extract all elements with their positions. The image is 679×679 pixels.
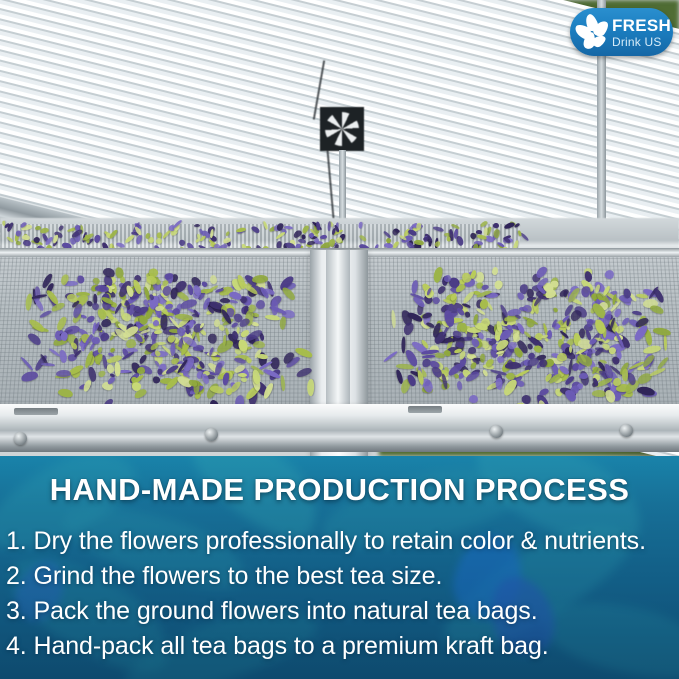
flower-petal — [604, 269, 616, 280]
flower-heap-right — [372, 262, 672, 402]
flower-petal — [281, 375, 286, 391]
flower-petal — [479, 353, 484, 362]
flower-heap-back — [0, 222, 520, 248]
frame-slot — [408, 406, 442, 413]
list-item: 3. Pack the ground flowers into natural … — [6, 594, 679, 629]
flower-petal — [569, 346, 572, 353]
flower-petal — [422, 354, 435, 357]
flower-petal — [320, 234, 327, 239]
flower-petal — [27, 317, 45, 334]
flower-petal — [476, 230, 482, 234]
frame-bolt — [205, 428, 218, 441]
flower-petal — [52, 234, 59, 244]
flower-petal — [358, 221, 364, 229]
flower-petal — [469, 394, 479, 403]
flower-petal — [26, 331, 43, 347]
flower-petal — [106, 375, 116, 385]
flower-petal — [57, 388, 73, 399]
flower-petal — [392, 310, 397, 328]
flower-petal — [94, 284, 108, 293]
flower-petal — [222, 335, 225, 346]
flower-petal — [185, 326, 189, 335]
flower-petal — [236, 227, 246, 233]
flower-heap-left — [10, 262, 310, 402]
flower-petal — [506, 373, 515, 380]
flower-petal — [59, 349, 68, 363]
flower-petal — [456, 380, 463, 389]
flower-petal — [6, 236, 15, 244]
flower-petal — [194, 224, 200, 227]
flower-petal — [307, 379, 315, 396]
flower-petal — [461, 290, 475, 304]
flower-petal — [154, 330, 162, 334]
flower-petal — [538, 387, 550, 397]
flower-petal — [15, 229, 22, 236]
flower-petal — [110, 347, 117, 353]
flower-petal — [526, 318, 535, 328]
flower-petal — [92, 336, 100, 343]
flower-petal — [649, 304, 665, 316]
flower-petal — [493, 223, 499, 228]
flower-petal — [416, 222, 422, 230]
frame-bolt — [490, 425, 503, 438]
flower-petal — [631, 310, 642, 316]
logo-text-block: FRESH Drink US — [612, 17, 671, 48]
frame-bolt — [620, 424, 633, 437]
flower-petal — [109, 229, 120, 240]
flower-petal — [177, 239, 185, 247]
flower-petal — [99, 331, 111, 342]
exhaust-fan-icon — [320, 107, 364, 151]
flower-petal — [271, 299, 278, 315]
flower-petal — [446, 236, 450, 241]
list-item: 1. Dry the flowers professionally to ret… — [6, 524, 679, 559]
flower-petal — [465, 311, 471, 317]
list-item: 4. Hand-pack all tea bags to a premium k… — [6, 629, 679, 664]
flower-petal — [77, 276, 84, 284]
logo-subtitle: Drink US — [612, 36, 671, 48]
flower-petal — [495, 377, 502, 389]
flower-petal — [295, 366, 312, 378]
flower-petal — [553, 306, 560, 313]
flower-petal — [359, 234, 368, 242]
flower-petal — [653, 326, 672, 336]
flower-petal — [201, 280, 209, 288]
flower-petal — [124, 234, 135, 243]
flower-petal — [156, 237, 162, 243]
flower-petal — [410, 280, 418, 295]
flower-petal — [24, 292, 32, 310]
flower-petal — [22, 239, 31, 247]
flower-petal — [383, 350, 399, 363]
list-item: 2. Grind the flowers to the best tea siz… — [6, 559, 679, 594]
flower-petal — [250, 225, 260, 235]
flower-petal — [493, 229, 500, 238]
flower-petal — [275, 231, 286, 240]
frame-slot — [14, 408, 58, 415]
flower-petal — [482, 369, 488, 377]
flower-petal — [435, 353, 445, 359]
flower-petal — [255, 299, 266, 310]
flower-petal — [153, 319, 159, 326]
flower-petal — [41, 363, 55, 367]
flower-petal — [225, 230, 231, 236]
flower-petal — [263, 221, 269, 231]
flower-petal — [209, 274, 219, 285]
flower-petal — [106, 363, 115, 373]
flower-petal — [479, 298, 488, 308]
flower-petal — [558, 319, 564, 325]
flower-petal — [612, 377, 620, 386]
flower-petal — [434, 240, 442, 248]
flower-petal — [436, 285, 447, 296]
flower-petal — [401, 337, 406, 354]
product-infographic-card: FRESH Drink US HAND-MADE PRODUCTION PROC… — [0, 0, 679, 679]
tray-front-frame-lower — [0, 430, 679, 452]
flower-petal — [664, 334, 667, 351]
flower-petal — [20, 356, 34, 371]
flower-leaf-icon — [575, 12, 611, 52]
greenhouse-photo — [0, 0, 679, 456]
flower-petal — [97, 369, 106, 378]
flower-petal — [279, 316, 287, 330]
flower-petal — [245, 357, 252, 365]
page-title: HAND-MADE PRODUCTION PROCESS — [0, 472, 679, 508]
flower-petal — [265, 314, 280, 321]
flower-petal — [547, 330, 553, 339]
flower-petal — [93, 234, 101, 243]
frame-bolt — [14, 432, 27, 445]
flower-petal — [20, 370, 38, 382]
flower-petal — [137, 367, 145, 374]
flower-petal — [220, 298, 230, 303]
process-step-list: 1. Dry the flowers professionally to ret… — [6, 524, 679, 664]
flower-petal — [649, 367, 666, 377]
flower-petal — [504, 221, 516, 230]
flower-petal — [492, 267, 499, 276]
brand-logo[interactable]: FRESH Drink US — [570, 8, 673, 56]
flower-petal — [208, 333, 218, 344]
flower-petal — [152, 376, 160, 384]
flower-petal — [316, 221, 321, 230]
flower-petal — [636, 385, 655, 396]
flower-petal — [114, 362, 120, 377]
flower-petal — [433, 226, 444, 232]
logo-brand-name: FRESH — [612, 17, 671, 34]
flower-petal — [642, 344, 661, 354]
flower-petal — [493, 279, 504, 291]
flower-petal — [432, 295, 441, 304]
flower-petal — [252, 274, 269, 283]
flower-petal — [505, 362, 521, 369]
flower-petal — [138, 354, 148, 365]
flower-petal — [428, 240, 432, 247]
